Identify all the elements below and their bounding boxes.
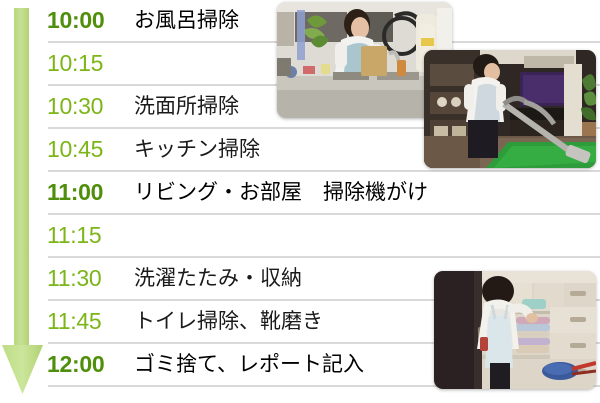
row-time: 10:00 [47,9,127,32]
row-task: ゴミ捨て、レポート記入 [127,354,364,375]
row-time: 11:45 [47,310,127,333]
row-time: 10:45 [47,138,127,161]
photo-vacuuming-image [424,50,596,168]
arrow-down-icon [0,0,46,403]
row-task: 洗面所掃除 [127,96,239,117]
photo-laundry-storage-image [434,271,596,389]
row-task: 洗濯たたみ・収納 [127,268,302,289]
row-time: 12:00 [47,353,127,376]
row-task: リビング・お部屋 掃除機がけ [127,182,428,203]
row-task: キッチン掃除 [127,139,260,160]
row-time: 10:30 [47,95,127,118]
timeline-arrow [0,0,46,403]
photo-laundry-storage[interactable] [434,271,596,389]
schedule-timeline-panel: 10:00 お風呂掃除 10:15 10:30 洗面所掃除 10:45 キッチン… [0,0,600,403]
table-row[interactable]: 11:00 リビング・お部屋 掃除機がけ [47,172,600,215]
row-task: お風呂掃除 [127,10,239,31]
row-time: 10:15 [47,52,127,75]
row-time: 11:30 [47,267,127,290]
row-time: 11:15 [47,224,127,247]
row-task: トイレ掃除、靴磨き [127,311,323,332]
photo-vacuuming[interactable] [424,50,596,168]
row-time: 11:00 [47,181,127,204]
table-row[interactable]: 11:15 [47,215,600,258]
